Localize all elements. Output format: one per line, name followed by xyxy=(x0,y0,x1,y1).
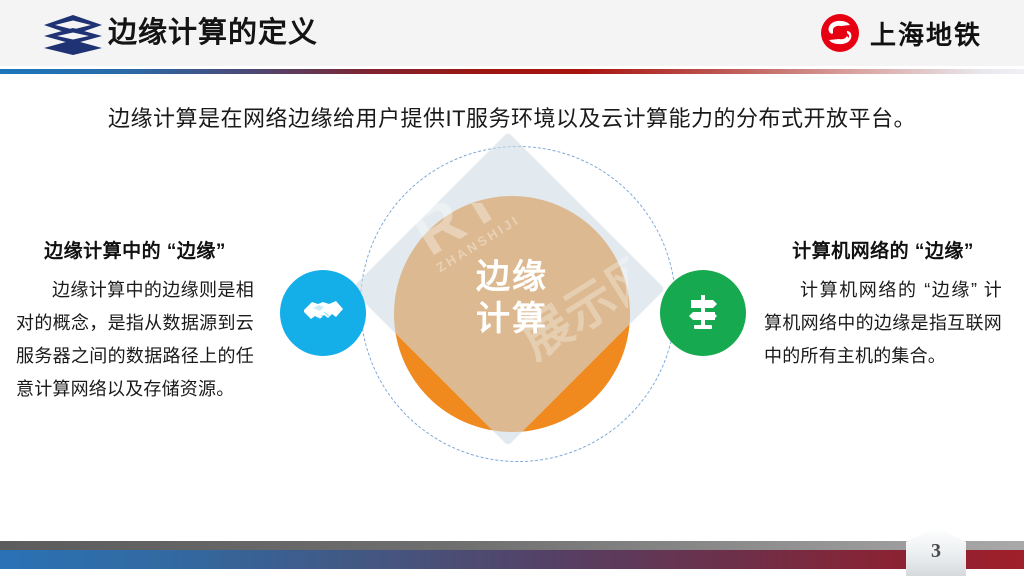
center-diagram: RT ZHANSHIJI 展示网 边缘 计算 xyxy=(278,148,746,480)
left-block-body: 边缘计算中的边缘则是相对的概念，是指从数据源到云服务器之间的数据路径上的任意计算… xyxy=(16,274,254,406)
footer-gradient-bar xyxy=(0,550,1024,569)
stacked-layers-icon xyxy=(42,14,104,56)
left-block-heading: 边缘计算中的 “边缘” xyxy=(16,236,254,263)
header-divider-rule xyxy=(0,69,1024,74)
slide-canvas: 边缘计算的定义 上海地铁 边缘计算是在网络边缘给用户提供IT服务环境以及云计算能… xyxy=(0,0,1024,576)
subtitle-text: 边缘计算是在网络边缘给用户提供IT服务环境以及云计算能力的分布式开放平台。 xyxy=(0,101,1024,133)
left-accent-circle xyxy=(280,270,366,356)
footer-gray-strip xyxy=(0,541,1024,550)
right-block-heading: 计算机网络的 “边缘” xyxy=(764,236,1002,263)
shanghai-metro-logo-icon xyxy=(820,13,860,53)
brand-name: 上海地铁 xyxy=(870,15,982,52)
signpost-icon xyxy=(681,289,725,338)
left-text-block: 边缘计算中的 “边缘” 边缘计算中的边缘则是相对的概念，是指从数据源到云服务器之… xyxy=(16,236,254,406)
footer-base-strip xyxy=(0,569,1024,576)
center-label-line1: 边缘 xyxy=(394,256,630,298)
right-block-body: 计算机网络的 “边缘” 计算机网络中的边缘是指互联网中的所有主机的集合。 xyxy=(764,274,1002,373)
right-text-block: 计算机网络的 “边缘” 计算机网络的 “边缘” 计算机网络中的边缘是指互联网中的… xyxy=(764,236,1002,373)
center-label: 边缘 计算 xyxy=(394,256,630,340)
page-number: 3 xyxy=(906,540,966,563)
handshake-icon xyxy=(300,288,346,339)
brand-block: 上海地铁 xyxy=(820,13,982,53)
center-label-line2: 计算 xyxy=(394,298,630,340)
page-title: 边缘计算的定义 xyxy=(108,10,318,56)
right-accent-circle xyxy=(660,270,746,356)
